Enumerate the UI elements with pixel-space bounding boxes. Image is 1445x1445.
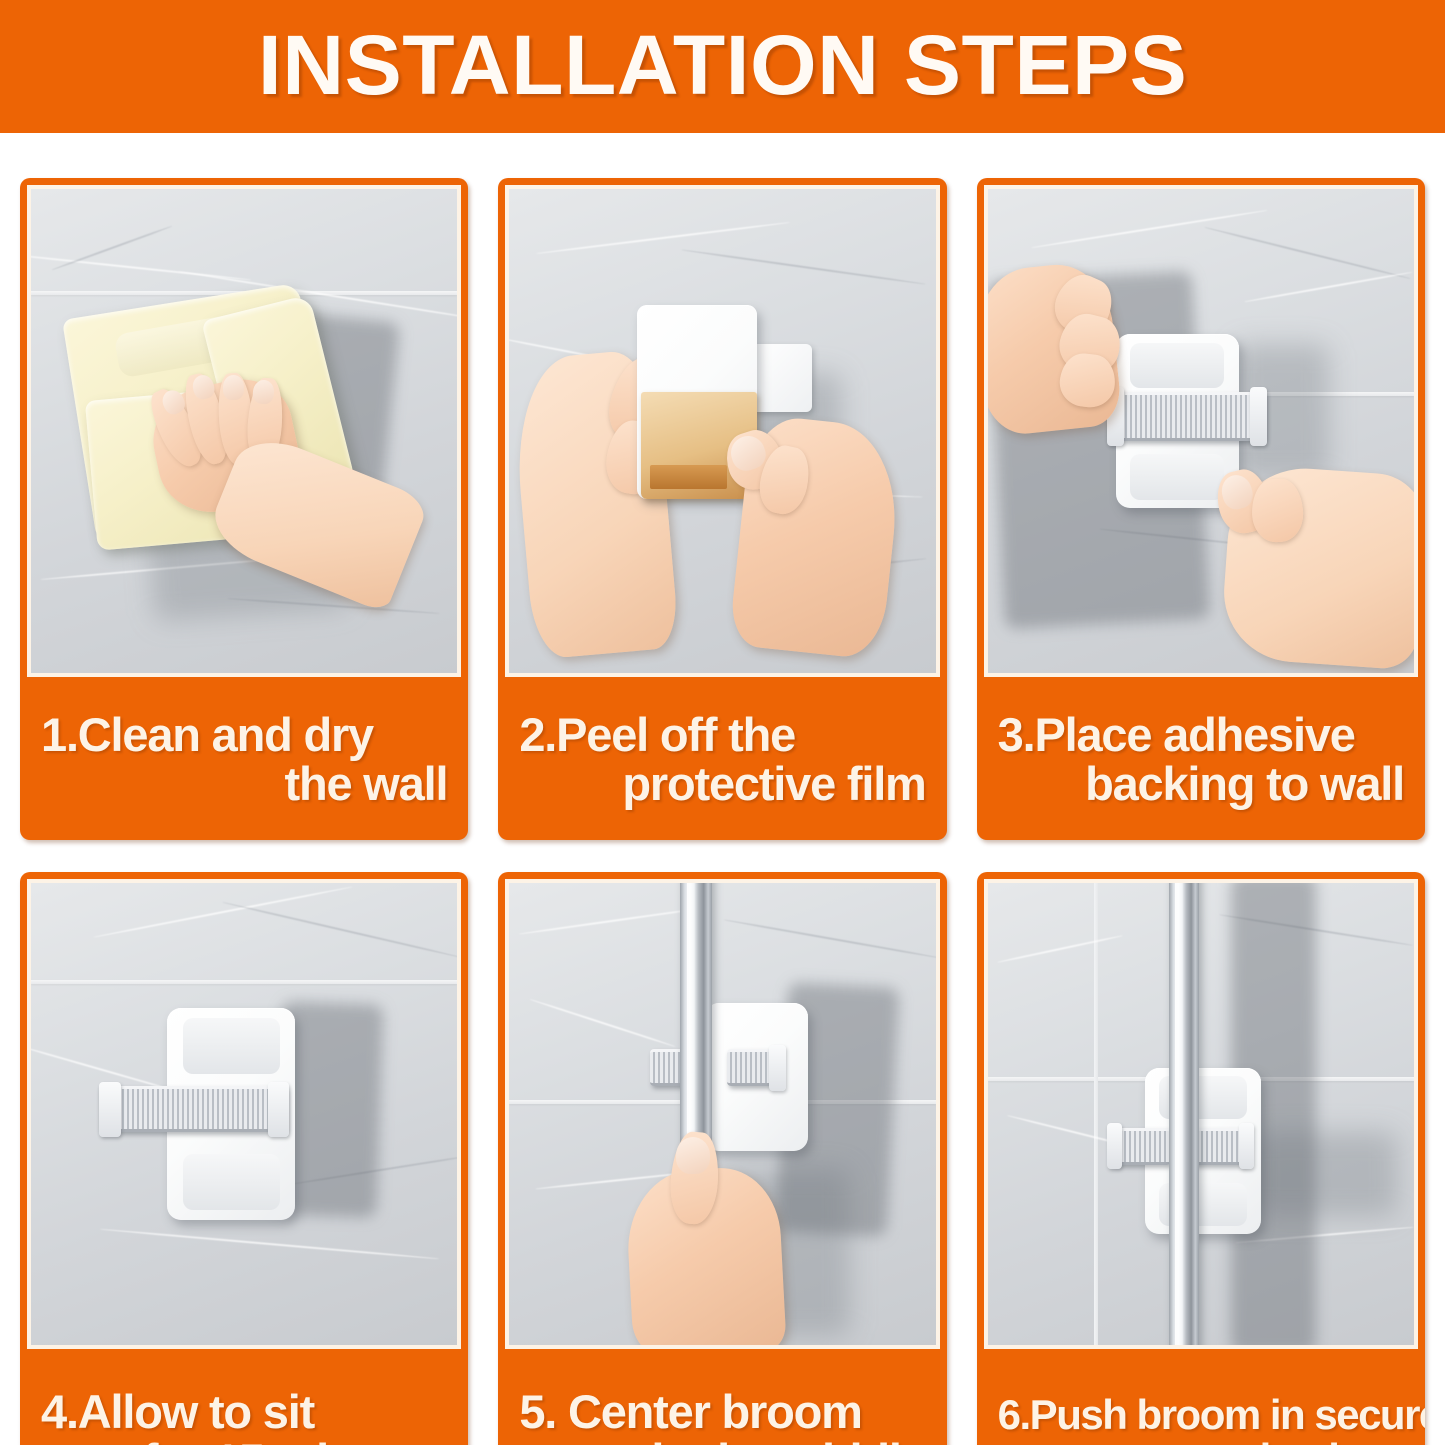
gripper-roller-right — [727, 1049, 774, 1086]
step-6-caption: 6.Push broom in secure in place — [984, 1349, 1418, 1445]
step-2-caption: 2.Peel off the protective film — [505, 677, 939, 840]
step-1-caption: 1.Clean and dry the wall — [27, 677, 461, 840]
pole-highlight — [1175, 883, 1182, 1345]
step-6-photo — [984, 879, 1418, 1349]
caption-line-2: in the middle — [519, 1437, 925, 1445]
step-3-photo — [984, 185, 1418, 677]
caption-line-1: 6.Push broom in secure — [998, 1393, 1404, 1437]
caption-line-1: 1.Clean and dry — [41, 711, 447, 760]
infographic-page: INSTALLATION STEPS — [0, 0, 1445, 1445]
roller-cap-right — [769, 1045, 786, 1091]
roller-cap-right — [1239, 1123, 1254, 1169]
holder-top-notch — [1130, 343, 1224, 388]
roller-cap-right — [268, 1082, 289, 1137]
gripper-roller — [1107, 392, 1265, 440]
film-peel-tab — [650, 465, 727, 489]
caption-line-2: in place — [998, 1437, 1404, 1445]
step-card-4: 4.Allow to sit for 15 minutes — [20, 872, 468, 1445]
tile-vertical-seam — [1094, 883, 1098, 1345]
step-card-5: 5. Center broom in the middle — [498, 872, 946, 1445]
header-banner: INSTALLATION STEPS — [0, 0, 1445, 133]
holder-bottom-notch — [183, 1154, 280, 1209]
caption-line-2: backing to wall — [998, 760, 1404, 809]
caption-line-2: protective film — [519, 760, 925, 809]
holder-top-notch — [183, 1018, 280, 1073]
step-card-3: 3.Place adhesive backing to wall — [977, 178, 1425, 840]
fingernail — [676, 1137, 710, 1174]
step-5-photo — [505, 879, 939, 1349]
step-2-photo — [505, 185, 939, 677]
caption-line-1: 2.Peel off the — [519, 711, 925, 760]
mount-side-tab — [752, 344, 812, 412]
step-card-1: 1.Clean and dry the wall — [20, 178, 468, 840]
holder-bottom-notch — [1130, 454, 1224, 499]
gripper-roller — [99, 1086, 287, 1132]
roller-cap-left — [1107, 1123, 1122, 1169]
broom-pole — [1169, 883, 1199, 1345]
caption-line-2: for 15 minutes — [41, 1437, 447, 1445]
roller-cap-right — [1250, 387, 1267, 445]
caption-line-1: 4.Allow to sit — [41, 1388, 447, 1437]
step-1-photo — [27, 185, 461, 677]
caption-line-1: 3.Place adhesive — [998, 711, 1404, 760]
caption-line-2: the wall — [41, 760, 447, 809]
finger — [1251, 479, 1304, 544]
steps-grid: 1.Clean and dry the wall — [0, 133, 1445, 1445]
roller-cap-left — [99, 1082, 120, 1137]
fingernail — [223, 375, 244, 399]
caption-line-1: 5. Center broom — [519, 1388, 925, 1437]
step-card-6: 6.Push broom in secure in place — [977, 872, 1425, 1445]
step-3-caption: 3.Place adhesive backing to wall — [984, 677, 1418, 840]
step-4-caption: 4.Allow to sit for 15 minutes — [27, 1349, 461, 1445]
holder-shadow — [1252, 1132, 1397, 1215]
step-5-caption: 5. Center broom in the middle — [505, 1349, 939, 1445]
step-4-photo — [27, 879, 461, 1349]
page-title: INSTALLATION STEPS — [258, 23, 1187, 111]
step-card-2: 2.Peel off the protective film — [498, 178, 946, 840]
